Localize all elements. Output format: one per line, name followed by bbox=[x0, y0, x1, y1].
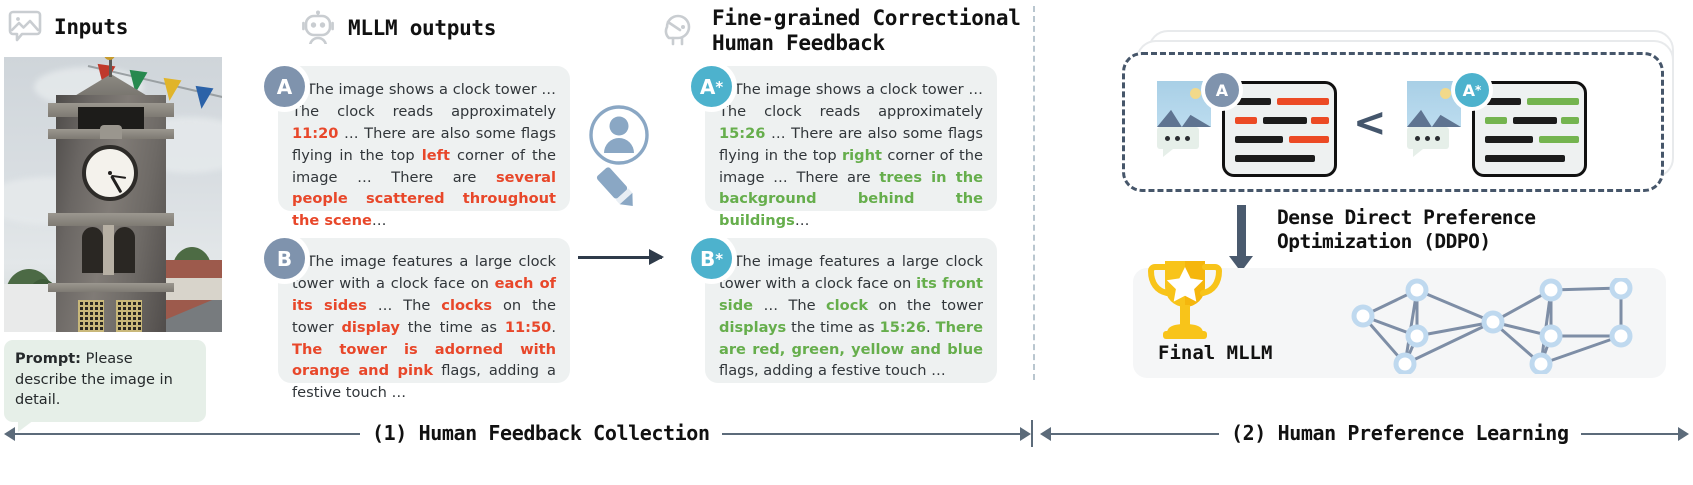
sample-thumbnail-a bbox=[1157, 81, 1211, 139]
correction-bubble-a-star: The image shows a clock tower … The cloc… bbox=[705, 66, 997, 211]
stage2-arrow-right bbox=[1678, 427, 1689, 441]
mllm-output-bubble-b: The image features a large clock tower w… bbox=[278, 238, 570, 383]
sample-thumbnail-a-star bbox=[1407, 81, 1461, 139]
preference-badge-a: A bbox=[1205, 73, 1239, 107]
mllm-output-text-b: The image features a large clock tower w… bbox=[292, 251, 556, 404]
neural-network-icon bbox=[1345, 278, 1655, 374]
image-icon bbox=[8, 8, 42, 46]
feedback-title: Fine-grained Correctional Human Feedback bbox=[712, 6, 1021, 56]
mllm-outputs-header: MLLM outputs bbox=[300, 8, 496, 48]
prompt-bubble-tail bbox=[18, 420, 34, 432]
preference-badge-a-star: A* bbox=[1455, 73, 1489, 107]
workflow-arrow bbox=[578, 256, 662, 259]
badge-a-star-label: A bbox=[700, 75, 715, 99]
prompt-bubble: Prompt: Please describe the image in det… bbox=[4, 340, 206, 422]
badge-b-star: B* bbox=[691, 238, 732, 279]
ddpo-arrow bbox=[1237, 205, 1246, 257]
person-pencil-icon bbox=[585, 103, 657, 212]
trophy-icon bbox=[1147, 255, 1223, 343]
badge-a: A bbox=[264, 66, 305, 107]
mllm-output-text-a: The image shows a clock tower … The cloc… bbox=[292, 79, 556, 232]
badge-a-label: A bbox=[277, 75, 292, 99]
stage2-caption: (2) Human Preference Learning bbox=[1219, 421, 1581, 445]
robot-icon bbox=[300, 8, 336, 48]
final-model-label: Final MLLM bbox=[1158, 342, 1272, 364]
inputs-title: Inputs bbox=[54, 15, 128, 40]
badge-b: B bbox=[264, 238, 305, 279]
correction-text-b-star: The image features a large clock tower w… bbox=[719, 251, 983, 382]
preference-badge-a-star-label: A bbox=[1463, 81, 1475, 100]
section-divider bbox=[1033, 6, 1035, 380]
stage1-caption: (1) Human Feedback Collection bbox=[360, 421, 722, 445]
stage-divider-tick bbox=[1031, 420, 1033, 447]
correction-bubble-b-star: The image features a large clock tower w… bbox=[705, 238, 997, 383]
correction-text-a-star: The image shows a clock tower … The cloc… bbox=[719, 79, 983, 232]
preference-badge-a-label: A bbox=[1216, 81, 1228, 100]
less-than-symbol: < bbox=[1353, 100, 1387, 146]
ddpo-label: Dense Direct Preference Optimization (DD… bbox=[1277, 206, 1536, 255]
inputs-header: Inputs bbox=[8, 8, 128, 46]
response-card-a-star bbox=[1472, 81, 1587, 177]
feedback-header: Fine-grained Correctional Human Feedback bbox=[660, 6, 1021, 56]
prompt-label: Prompt: bbox=[15, 351, 81, 367]
badge-b-label: B bbox=[277, 247, 292, 271]
preference-pair-card: A < A* bbox=[1122, 52, 1664, 192]
badge-b-star-label: B bbox=[700, 247, 715, 271]
mllm-output-bubble-a: The image shows a clock tower … The cloc… bbox=[278, 66, 570, 211]
stage1-arrow-right bbox=[1020, 427, 1031, 441]
human-edit-icon bbox=[660, 10, 700, 54]
input-image bbox=[4, 57, 222, 332]
response-card-a bbox=[1222, 81, 1337, 177]
badge-a-star: A* bbox=[691, 66, 732, 107]
mllm-outputs-title: MLLM outputs bbox=[348, 16, 496, 41]
